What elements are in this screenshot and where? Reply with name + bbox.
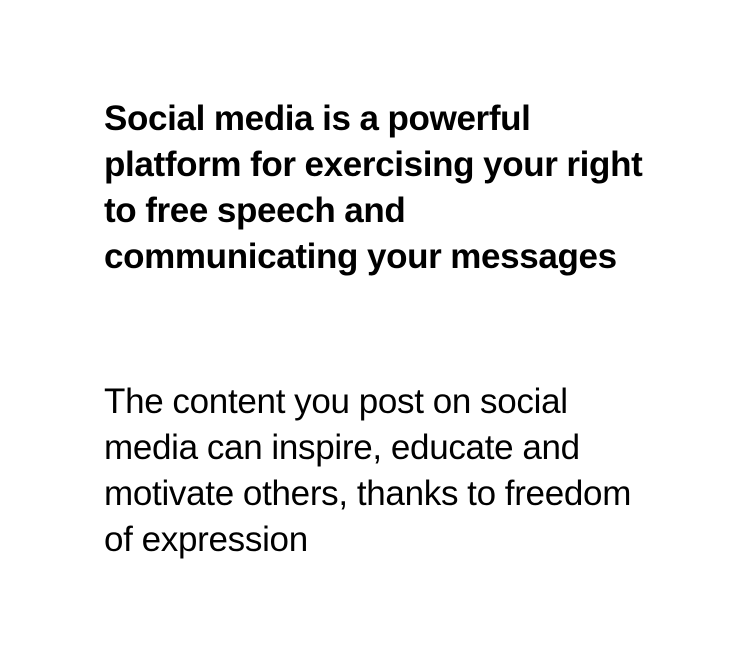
headline-text: Social media is a powerful platform for … <box>104 96 664 280</box>
body-paragraph: The content you post on social media can… <box>104 379 664 563</box>
slide-canvas: Social media is a powerful platform for … <box>0 0 750 650</box>
